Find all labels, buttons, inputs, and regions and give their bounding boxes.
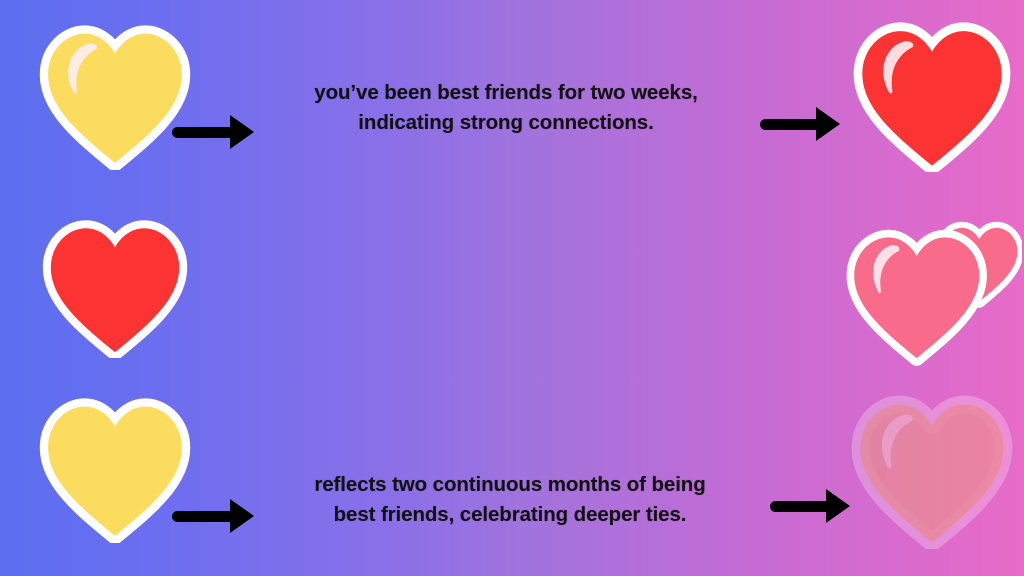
yellow-heart-icon xyxy=(39,395,191,543)
faded-heart-icon xyxy=(850,393,1014,549)
yellow-heart-icon xyxy=(39,22,191,170)
row-1-right-icon-slot xyxy=(840,0,1024,192)
infographic-row-2: reflects two continuous months of being … xyxy=(0,192,1024,384)
arrow-head xyxy=(230,115,254,149)
row-2-right-icon-slot xyxy=(840,192,1024,384)
large-pink-heart xyxy=(854,237,979,358)
infographic-row-1: you’ve been best friends for two weeks, … xyxy=(0,0,1024,192)
arrow-head xyxy=(816,107,840,141)
red-heart-icon xyxy=(852,20,1012,172)
row-1-caption-line-1: you’ve been best friends for two weeks, xyxy=(256,78,756,108)
infographic-row-3: If one friend communicates more with oth… xyxy=(0,384,1024,576)
row-1-left-icon-slot xyxy=(30,0,200,192)
arrow-right-icon-row1-left xyxy=(172,112,254,152)
row-2-left-icon-slot xyxy=(30,192,200,384)
row-1-caption-line-2: indicating strong connections. xyxy=(256,108,756,138)
red-heart-icon xyxy=(42,218,188,358)
infographic-canvas: you’ve been best friends for two weeks, … xyxy=(0,0,1024,576)
two-pink-hearts-icon xyxy=(842,208,1022,368)
row-1-caption: you’ve been best friends for two weeks, … xyxy=(256,78,756,139)
arrow-shaft xyxy=(760,119,818,130)
arrow-right-icon-row1-right xyxy=(760,104,840,144)
row-3-left-icon-slot xyxy=(30,373,200,576)
row-3-right-icon-slot xyxy=(840,375,1024,576)
arrow-shaft xyxy=(172,127,232,138)
